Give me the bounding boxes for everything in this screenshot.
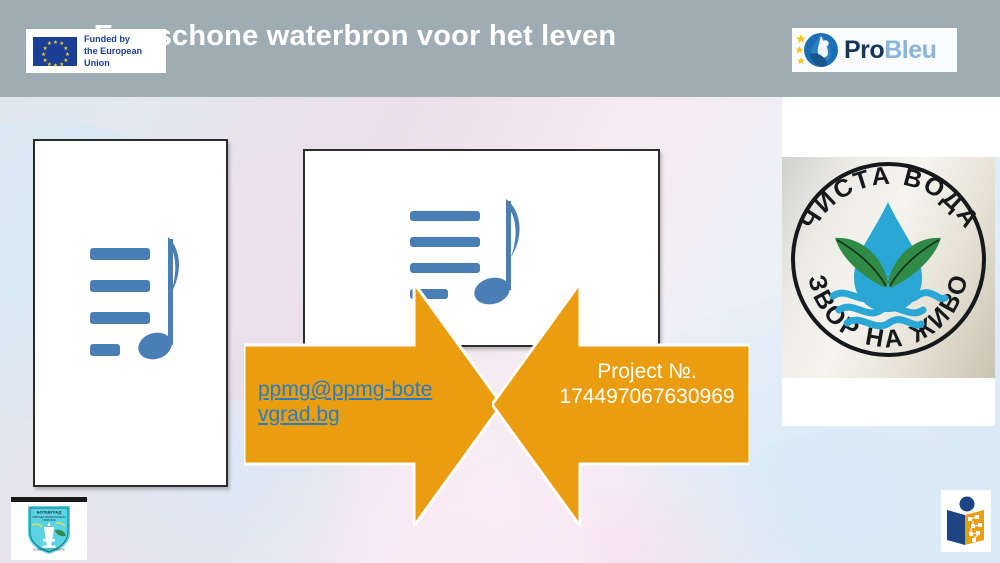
project-number-label: Project №. 174497067630969 xyxy=(552,360,742,410)
project-number-line2: 174497067630969 xyxy=(552,385,742,410)
music-note-list-icon xyxy=(90,234,188,364)
right-panel-white-bottom xyxy=(782,378,995,426)
slide: Een schone waterbron voor het leven ★ ★ … xyxy=(0,0,1000,563)
email-hyperlink[interactable]: ppmg@ppmg-botevgrad.bg xyxy=(258,378,434,428)
school-crest: БОТЕВГРАД ПРИРОДО-МАТЕМАТИЧЕСКА ГИМНАЗИЯ… xyxy=(11,497,87,560)
probleu-word-bleu: Bleu xyxy=(884,36,936,64)
eu-flag-icon: ★ ★ ★ ★ ★ ★ ★ ★ ★ ★ ★ ★ xyxy=(33,37,77,66)
probleu-logo: ProBleu xyxy=(792,28,957,72)
svg-text:SCIENTIA EST POTENTIA: SCIENTIA EST POTENTIA xyxy=(33,548,64,552)
right-panel-white-top xyxy=(782,97,1000,157)
svg-text:БОТЕВГРАД: БОТЕВГРАД xyxy=(37,510,62,515)
open-book-network-icon xyxy=(941,490,991,552)
eu-funding-line2: the European Union xyxy=(84,45,166,69)
probleu-mark-icon xyxy=(796,30,840,70)
probleu-wordmark: ProBleu xyxy=(844,36,936,65)
project-number-line1: Project №. xyxy=(552,360,742,385)
chista-voda-logo: ЧИСТА ВОДА ИЗВОР НА ЖИВОТ xyxy=(782,157,995,378)
water-drop-leaves-waves-icon xyxy=(791,162,986,357)
eu-funding-line1: Funded by xyxy=(84,33,166,45)
eu-funding-logo: ★ ★ ★ ★ ★ ★ ★ ★ ★ ★ ★ ★ Funded by the Eu… xyxy=(26,29,166,73)
probleu-word-pro: Pro xyxy=(844,36,884,64)
audio-placeholder-left[interactable] xyxy=(33,139,228,487)
eu-funding-label: Funded by the European Union xyxy=(84,33,166,69)
svg-text:ГИМНАЗИЯ: ГИМНАЗИЯ xyxy=(42,519,55,522)
